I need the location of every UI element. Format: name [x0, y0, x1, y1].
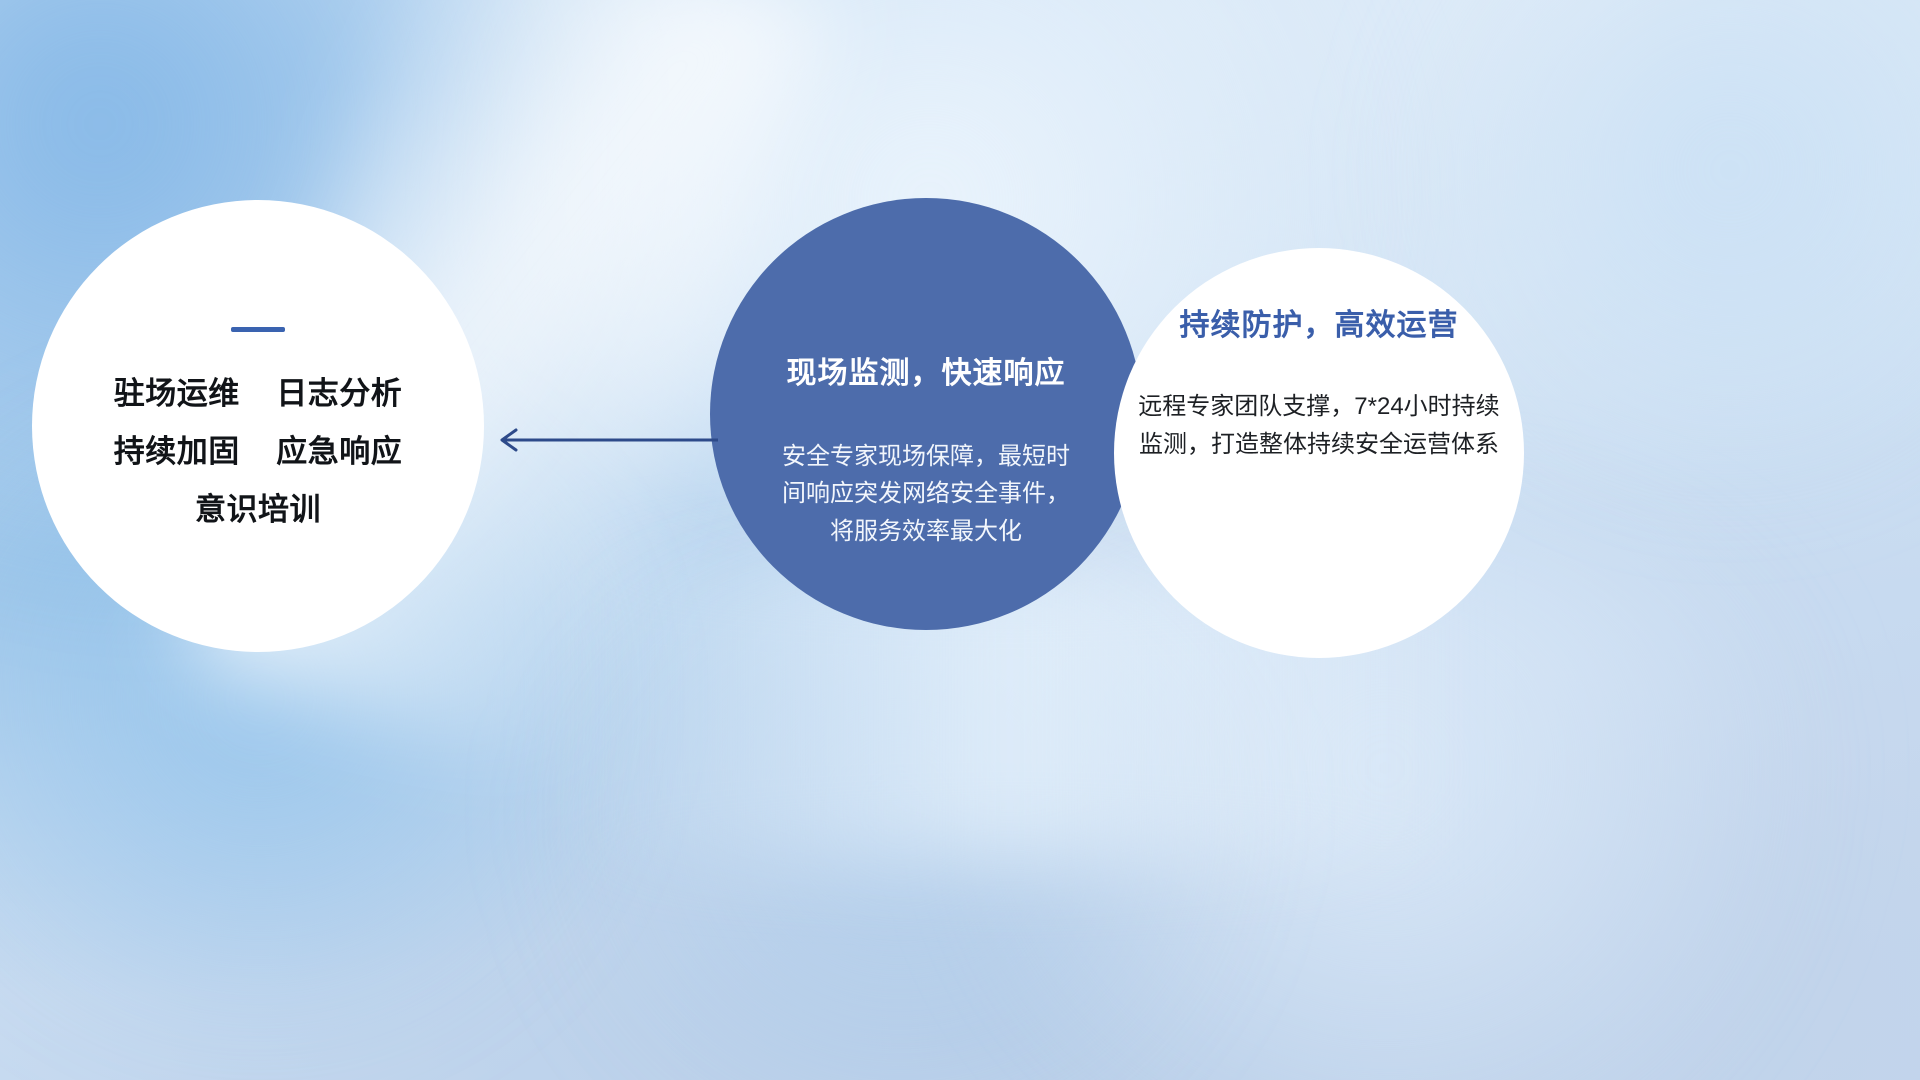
divider-dash — [231, 327, 285, 332]
list-item: 持续加固 应急响应 — [114, 436, 402, 467]
service-capability-list: 驻场运维 日志分析 持续加固 应急响应 意识培训 — [114, 378, 402, 525]
background-blob — [520, 600, 1280, 1080]
list-item: 意识培训 — [114, 494, 402, 525]
circle-onsite-monitoring-body: 安全专家现场保障，最短时间响应突发网络安全事件，将服务效率最大化 — [778, 438, 1074, 550]
list-item: 驻场运维 日志分析 — [114, 378, 402, 409]
circle-onsite-monitoring-title: 现场监测，快速响应 — [787, 348, 1066, 392]
circle-continuous-protection-body: 远程专家团队支撑，7*24小时持续监测，打造整体持续安全运营体系 — [1137, 388, 1501, 464]
circle-onsite-monitoring: 现场监测，快速响应 安全专家现场保障，最短时间响应突发网络安全事件，将服务效率最… — [710, 198, 1142, 630]
slide-canvas: 现场监测，快速响应 安全专家现场保障，最短时间响应突发网络安全事件，将服务效率最… — [0, 0, 1920, 1080]
arrow-left-icon — [490, 418, 720, 462]
circle-service-capabilities: 驻场运维 日志分析 持续加固 应急响应 意识培训 — [32, 200, 484, 652]
circle-continuous-protection-title: 持续防护，高效运营 — [1180, 300, 1459, 344]
circle-continuous-protection: 持续防护，高效运营 远程专家团队支撑，7*24小时持续监测，打造整体持续安全运营… — [1114, 248, 1524, 658]
